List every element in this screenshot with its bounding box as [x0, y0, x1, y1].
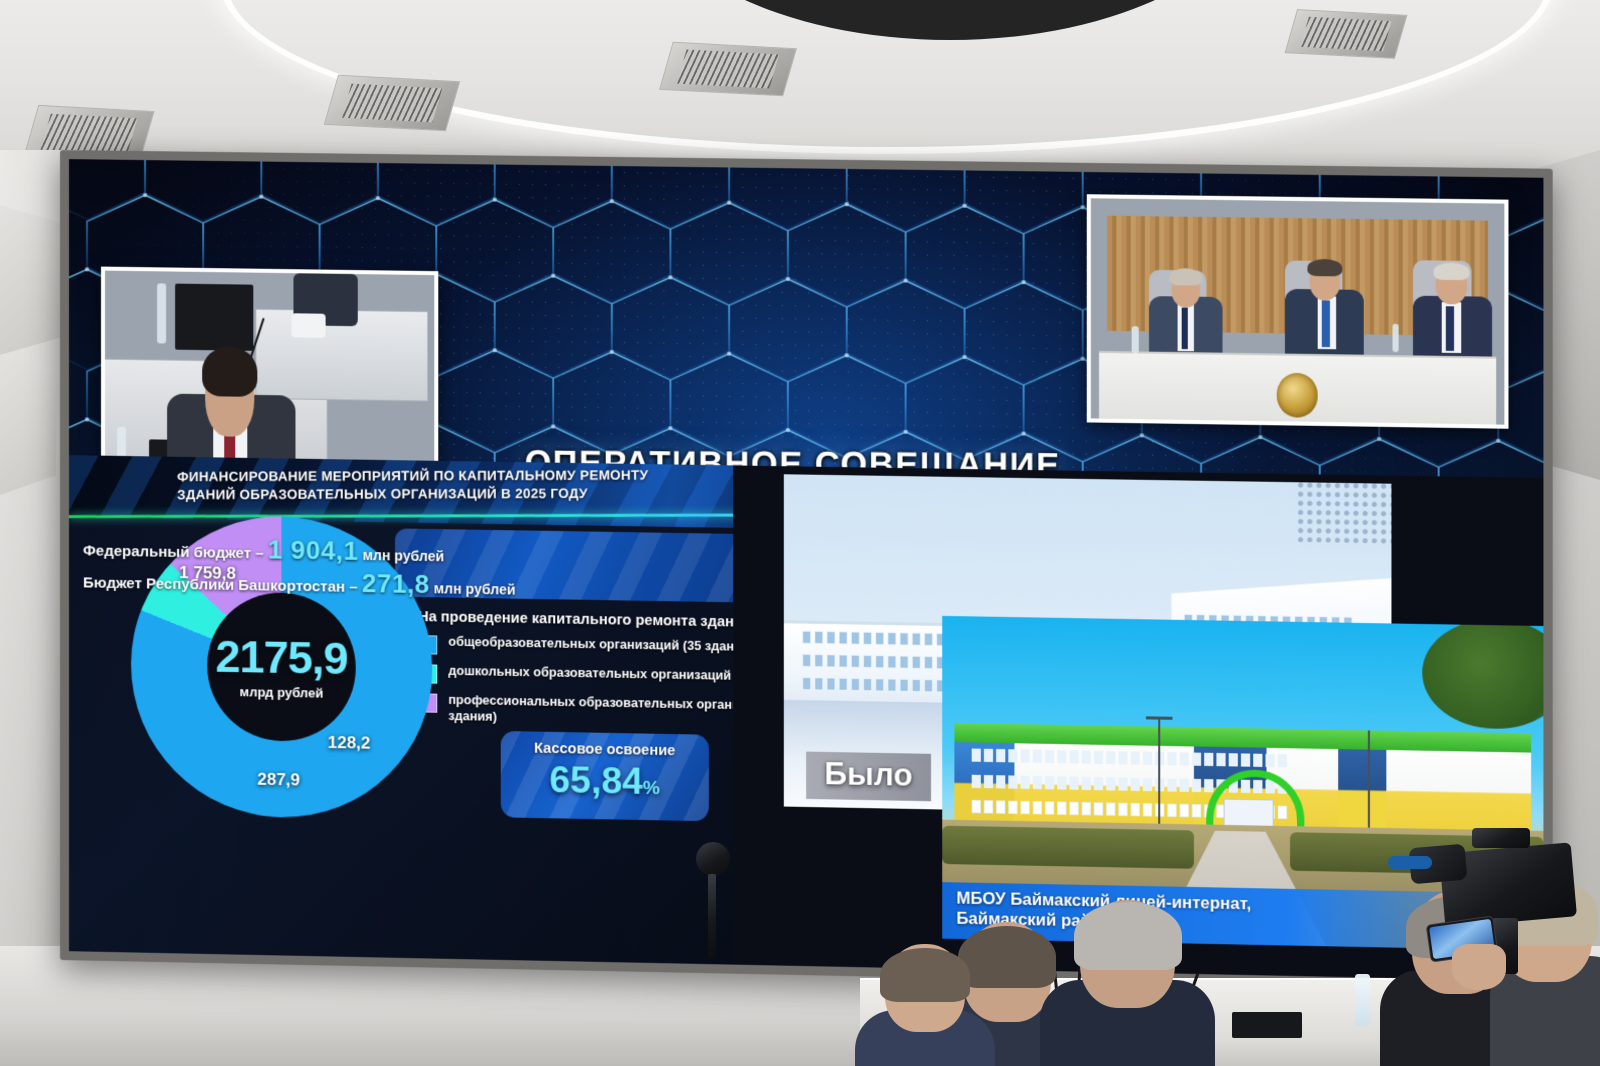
- building-window: [1070, 776, 1079, 789]
- donut-total-unit: млрд рублей: [240, 684, 324, 701]
- building-window: [1131, 777, 1140, 790]
- building-window: [863, 655, 872, 668]
- building-window: [1045, 750, 1054, 763]
- building-window: [1021, 750, 1030, 763]
- building-window: [1107, 803, 1116, 816]
- building-window: [984, 749, 993, 762]
- building-window: [1058, 776, 1067, 789]
- led-screen-surface: ОПЕРАТИВНОЕ СОВЕЩАНИЕ В ПРАВИТЕЛЬСТВЕ РЕ…: [69, 159, 1543, 981]
- building-window: [1205, 779, 1214, 792]
- building-window: [1058, 750, 1067, 763]
- budget-federal-label: Федеральный бюджет –: [83, 542, 268, 562]
- building-window: [1180, 752, 1189, 765]
- building-window: [924, 679, 933, 692]
- building-window: [1009, 775, 1018, 788]
- video-inset-presidium[interactable]: [1087, 194, 1509, 429]
- budget-federal-unit: млн рублей: [359, 547, 445, 564]
- building-window: [1058, 802, 1067, 815]
- camera-handle: [1472, 828, 1530, 848]
- building-window: [984, 801, 993, 814]
- cash-execution-value-wrap: 65,84%: [501, 760, 709, 801]
- camera-mic: [1388, 856, 1432, 869]
- building-window: [863, 678, 872, 691]
- video-inset-speaker[interactable]: [101, 267, 438, 480]
- cash-execution-card: Кассовое освоение 65,84%: [501, 731, 709, 821]
- building-window: [814, 677, 823, 690]
- ptz-camera-mount: [696, 842, 730, 876]
- building-window: [899, 679, 908, 692]
- building-window: [1033, 750, 1042, 763]
- building-window: [1168, 804, 1177, 817]
- water-bottle: [1355, 974, 1370, 1026]
- building-window: [826, 678, 835, 691]
- legend-label-general: общеобразовательных организаций (35 здан…: [448, 635, 754, 656]
- building-window: [1180, 804, 1189, 817]
- building-window: [1082, 751, 1091, 764]
- wall-facet: [0, 205, 62, 355]
- building-window: [1107, 751, 1116, 764]
- building-window: [1143, 778, 1152, 791]
- budget-line-federal: Федеральный бюджет – 1 904,1 млн рублей: [83, 531, 444, 568]
- building-window: [1180, 778, 1189, 791]
- badge-before: Было: [806, 752, 931, 802]
- building-window: [1192, 753, 1201, 766]
- budget-republic-unit: млн рублей: [430, 580, 516, 597]
- building-window: [1094, 777, 1103, 790]
- building-window: [838, 655, 847, 668]
- cash-execution-label: Кассовое освоение: [501, 740, 709, 760]
- building-window: [1033, 802, 1042, 815]
- slide-title: ФИНАНСИРОВАНИЕ МЕРОПРИЯТИЙ ПО КАПИТАЛЬНО…: [177, 466, 741, 504]
- building-window: [838, 631, 847, 644]
- building-window: [972, 800, 981, 813]
- building-window: [997, 749, 1006, 762]
- building-window: [887, 679, 896, 692]
- building-window: [1045, 776, 1054, 789]
- presidium-camera-feed: [1091, 198, 1505, 424]
- led-video-wall[interactable]: ОПЕРАТИВНОЕ СОВЕЩАНИЕ В ПРАВИТЕЛЬСТВЕ РЕ…: [60, 150, 1553, 990]
- budget-republic-value: 271,8: [362, 568, 430, 599]
- building-window: [1119, 777, 1128, 790]
- building-window: [1033, 776, 1042, 789]
- donut-label-preschool: 128,2: [328, 733, 371, 754]
- building-window: [1021, 801, 1030, 814]
- building-window: [1021, 775, 1030, 788]
- building-window: [802, 631, 811, 644]
- building-window: [997, 801, 1006, 814]
- building-window: [1070, 802, 1079, 815]
- building-window: [814, 654, 823, 667]
- building-window: [1143, 804, 1152, 817]
- delegate-monitor: [1232, 1012, 1302, 1038]
- ceiling-vent: [324, 75, 460, 131]
- donut-total-value: 2175,9: [215, 633, 347, 680]
- building-window: [997, 775, 1006, 788]
- building-window: [1131, 752, 1140, 765]
- building-window: [924, 656, 933, 669]
- ceiling-vent: [1285, 9, 1408, 59]
- ptz-camera-pole: [708, 874, 716, 960]
- building-window: [887, 655, 896, 668]
- cash-execution-value: 65,84: [549, 759, 643, 802]
- building-window: [1278, 754, 1287, 767]
- building-window: [1094, 803, 1103, 816]
- building-window: [1009, 749, 1018, 762]
- budget-federal-value: 1 904,1: [268, 534, 359, 566]
- building-window: [875, 679, 884, 692]
- building-window: [826, 654, 835, 667]
- state-emblem: [1277, 373, 1318, 418]
- building-window: [875, 655, 884, 668]
- building-window: [863, 632, 872, 645]
- donut-label-professional: 287,9: [257, 770, 300, 791]
- building-window: [972, 775, 981, 788]
- presentation-slide: ФИНАНСИРОВАНИЕ МЕРОПРИЯТИЙ ПО КАПИТАЛЬНО…: [69, 455, 1543, 981]
- building-window: [1229, 753, 1238, 766]
- building-window: [875, 632, 884, 645]
- attendee-hair: [958, 926, 1056, 988]
- building-window: [826, 631, 835, 644]
- attendee-hair: [1074, 902, 1182, 970]
- building-window: [1254, 754, 1263, 767]
- lamp-arm: [1146, 716, 1173, 720]
- building-window: [1192, 779, 1201, 792]
- donut-center: 2175,9 млрд рублей: [207, 591, 356, 742]
- hand-holding-phone: [1452, 944, 1506, 990]
- building-window: [1205, 753, 1214, 766]
- building-window: [851, 678, 860, 691]
- building-window: [972, 749, 981, 762]
- building-window: [1143, 752, 1152, 765]
- building-window: [1241, 754, 1250, 767]
- building-window: [1070, 751, 1079, 764]
- building-window: [838, 678, 847, 691]
- building-window: [1119, 751, 1128, 764]
- ceiling-vent: [659, 42, 797, 97]
- building-window: [851, 632, 860, 645]
- building-window: [1192, 804, 1201, 817]
- slide-title-line-1: ФИНАНСИРОВАНИЕ МЕРОПРИЯТИЙ ПО КАПИТАЛЬНО…: [177, 466, 741, 486]
- building-window: [802, 654, 811, 667]
- building-window: [1094, 751, 1103, 764]
- building-window: [1107, 777, 1116, 790]
- tree-branch-before: [1294, 482, 1392, 544]
- building-window: [1119, 803, 1128, 816]
- building-window: [1131, 803, 1140, 816]
- building-window: [912, 633, 921, 646]
- building-window: [899, 656, 908, 669]
- building-window: [802, 677, 811, 690]
- building-window: [814, 631, 823, 644]
- building-window: [984, 775, 993, 788]
- wall-facet: [0, 355, 56, 495]
- hedge-row-left: [942, 826, 1194, 870]
- building-window: [1266, 754, 1275, 767]
- building-window: [851, 655, 860, 668]
- attendee-hair: [880, 948, 970, 1002]
- budget-republic-label: Бюджет Республики Башкортостан –: [83, 574, 362, 596]
- building-window: [912, 656, 921, 669]
- speaker-camera-feed: [105, 271, 434, 476]
- building-window: [1045, 802, 1054, 815]
- building-window: [1168, 778, 1177, 791]
- building-window-row: [972, 749, 1287, 768]
- slide-title-line-2: ЗДАНИЙ ОБРАЗОВАТЕЛЬНЫХ ОРГАНИЗАЦИЙ В 202…: [177, 484, 741, 504]
- building-window: [924, 633, 933, 646]
- building-window: [912, 679, 921, 692]
- building-window: [887, 632, 896, 645]
- meeting-hall-scene: ОПЕРАТИВНОЕ СОВЕЩАНИЕ В ПРАВИТЕЛЬСТВЕ РЕ…: [0, 0, 1600, 1066]
- building-window: [1009, 801, 1018, 814]
- building-window: [1082, 802, 1091, 815]
- cash-execution-unit: %: [643, 778, 660, 799]
- building-window: [1168, 752, 1177, 765]
- building-window: [1082, 777, 1091, 790]
- building-window: [1217, 753, 1226, 766]
- building-window: [899, 632, 908, 645]
